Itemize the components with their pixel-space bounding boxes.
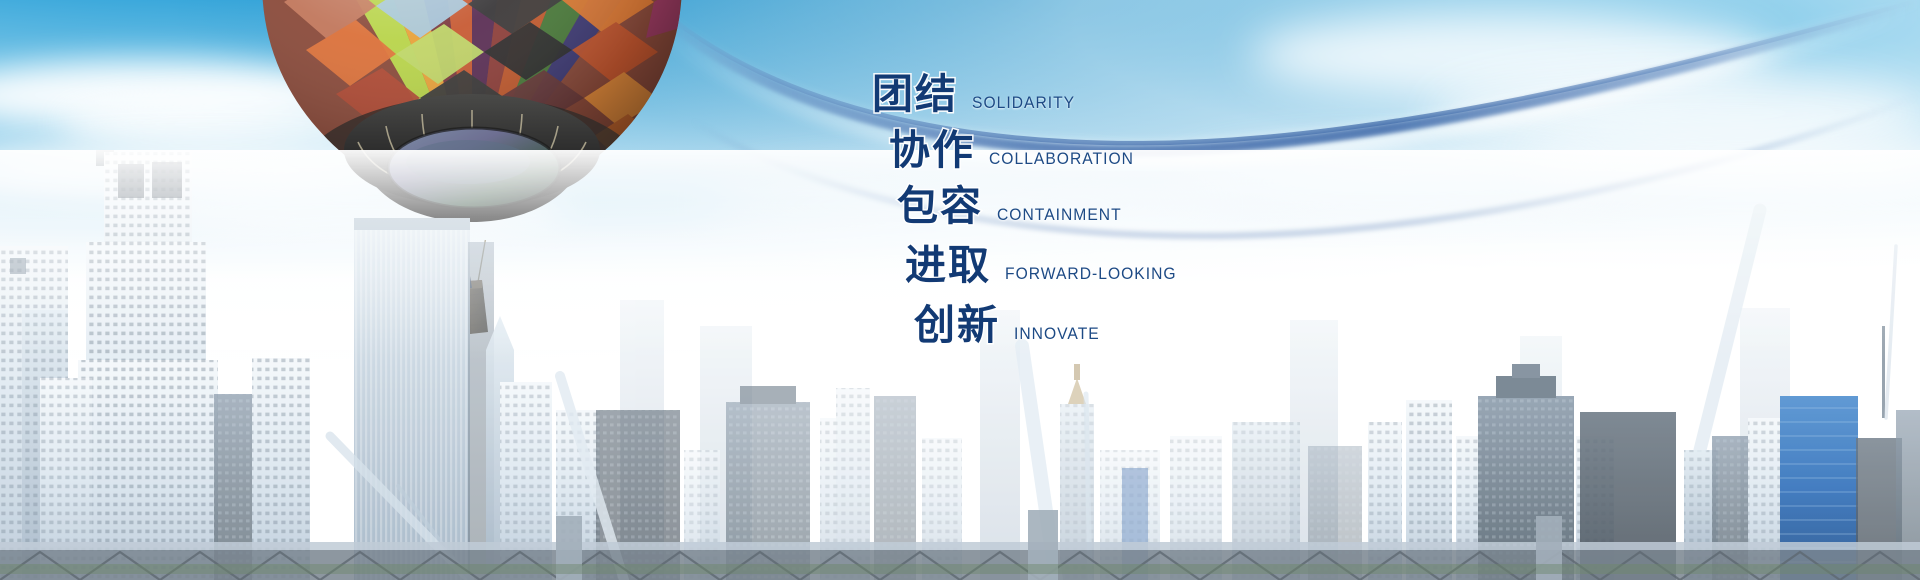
values-banner: 团结 SOLIDARITY 协作 COLLABORATION 包容 CONTAI… [0, 0, 1920, 580]
city-skyline [0, 150, 1920, 580]
